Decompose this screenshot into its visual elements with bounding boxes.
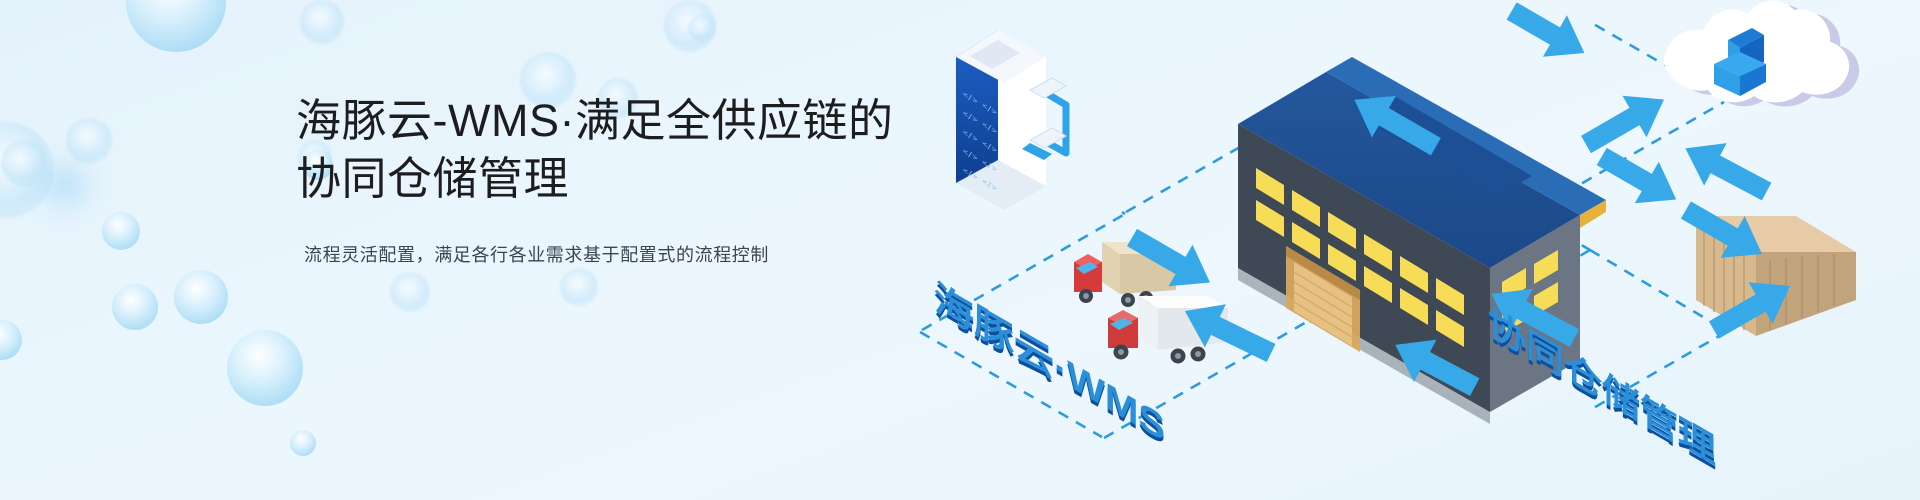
decor-bubble	[688, 14, 716, 42]
decor-bubble	[30, 150, 100, 220]
decor-bubble	[126, 0, 226, 52]
decor-bubble	[0, 122, 54, 218]
hero-copy: 海豚云-WMS·满足全供应链的 协同仓储管理 流程灵活配置，满足各行各业需求基于…	[296, 92, 916, 267]
server-rack-icon: </> </> </> </> </> </> </> </> </> </>	[956, 30, 1066, 210]
decor-bubble	[174, 270, 228, 324]
decor-bubble	[560, 268, 598, 306]
decor-bubble	[227, 330, 303, 406]
page-title: 海豚云-WMS·满足全供应链的 协同仓储管理	[296, 92, 916, 207]
decor-bubble	[300, 0, 344, 44]
decor-bubble	[102, 212, 140, 250]
decor-bubble	[1, 140, 47, 186]
cloud-download-icon	[1664, 1, 1859, 107]
page-subtitle: 流程灵活配置，满足各行各业需求基于配置式的流程控制	[304, 241, 916, 267]
decor-bubble	[664, 0, 716, 52]
hero-banner: 海豚云-WMS·满足全供应链的 协同仓储管理 流程灵活配置，满足各行各业需求基于…	[0, 0, 1920, 500]
decor-bubble	[112, 284, 158, 330]
decor-bubble	[66, 118, 112, 164]
decor-bubble	[0, 320, 22, 360]
decor-bubble	[290, 430, 316, 456]
decor-bubble	[390, 272, 430, 312]
illustration-warehouse: </> </> </> </> </> </> </> </> </> </>	[890, 0, 1920, 500]
